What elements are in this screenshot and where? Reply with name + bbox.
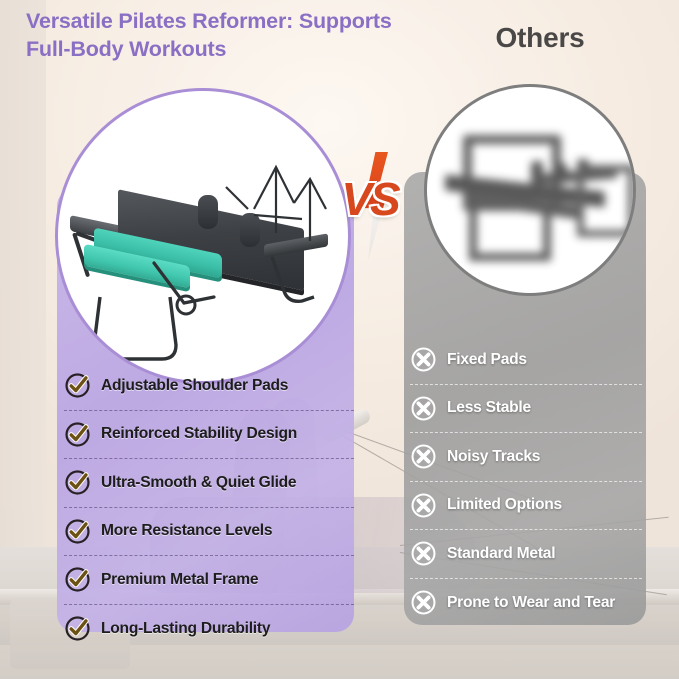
list-item-label: Ultra-Smooth & Quiet Glide [101, 474, 296, 492]
competitor-blurred-product [427, 87, 633, 293]
list-item: Premium Metal Frame [64, 556, 354, 605]
list-item: Long-Lasting Durability [64, 605, 354, 654]
x-circle-icon [410, 443, 437, 470]
list-item-label: Standard Metal [447, 545, 555, 563]
right-panel-title: Others [420, 22, 660, 54]
x-circle-icon [410, 589, 437, 616]
list-item-label: More Resistance Levels [101, 522, 272, 540]
check-circle-icon [64, 421, 91, 448]
check-circle-icon [64, 372, 91, 399]
left-feature-list: Adjustable Shoulder Pads Reinforced Stab… [64, 362, 354, 653]
list-item-label: Adjustable Shoulder Pads [101, 377, 288, 395]
left-product-circle [55, 88, 351, 384]
list-item: Less Stable [410, 385, 642, 434]
right-product-circle [424, 84, 636, 296]
list-item-label: Prone to Wear and Tear [447, 594, 615, 612]
check-circle-icon [64, 566, 91, 593]
list-item: Ultra-Smooth & Quiet Glide [64, 459, 354, 508]
list-item: Reinforced Stability Design [64, 411, 354, 460]
check-circle-icon [64, 469, 91, 496]
list-item: More Resistance Levels [64, 508, 354, 557]
competitor-pad-a [531, 161, 543, 179]
x-circle-icon [410, 395, 437, 422]
list-item: Fixed Pads [410, 336, 642, 385]
lightning-bolt-icon [358, 152, 388, 260]
x-circle-icon [410, 540, 437, 567]
list-item-label: Noisy Tracks [447, 448, 540, 466]
list-item-label: Reinforced Stability Design [101, 425, 297, 443]
list-item: Standard Metal [410, 530, 642, 579]
list-item: Adjustable Shoulder Pads [64, 362, 354, 411]
x-circle-icon [410, 346, 437, 373]
left-panel-title: Versatile Pilates Reformer: Supports Ful… [26, 8, 396, 63]
list-item: Noisy Tracks [410, 433, 642, 482]
background-wall [0, 0, 46, 569]
list-item-label: Limited Options [447, 496, 562, 514]
right-feature-list: Fixed Pads Less Stable Noisy Tracks Limi… [410, 336, 642, 627]
list-item-label: Long-Lasting Durability [101, 620, 270, 638]
check-circle-icon [64, 518, 91, 545]
list-item-label: Less Stable [447, 399, 531, 417]
list-item-label: Fixed Pads [447, 351, 527, 369]
comparison-infographic: Versatile Pilates Reformer: Supports Ful… [0, 0, 679, 679]
competitor-pad-b [555, 163, 567, 181]
check-circle-icon [64, 615, 91, 642]
competitor-leg [469, 203, 551, 261]
x-circle-icon [410, 492, 437, 519]
list-item: Limited Options [410, 482, 642, 531]
competitor-right-frame [577, 165, 635, 237]
list-item: Prone to Wear and Tear [410, 579, 642, 628]
list-item-label: Premium Metal Frame [101, 571, 258, 589]
reformer-spring-lines [58, 91, 348, 381]
